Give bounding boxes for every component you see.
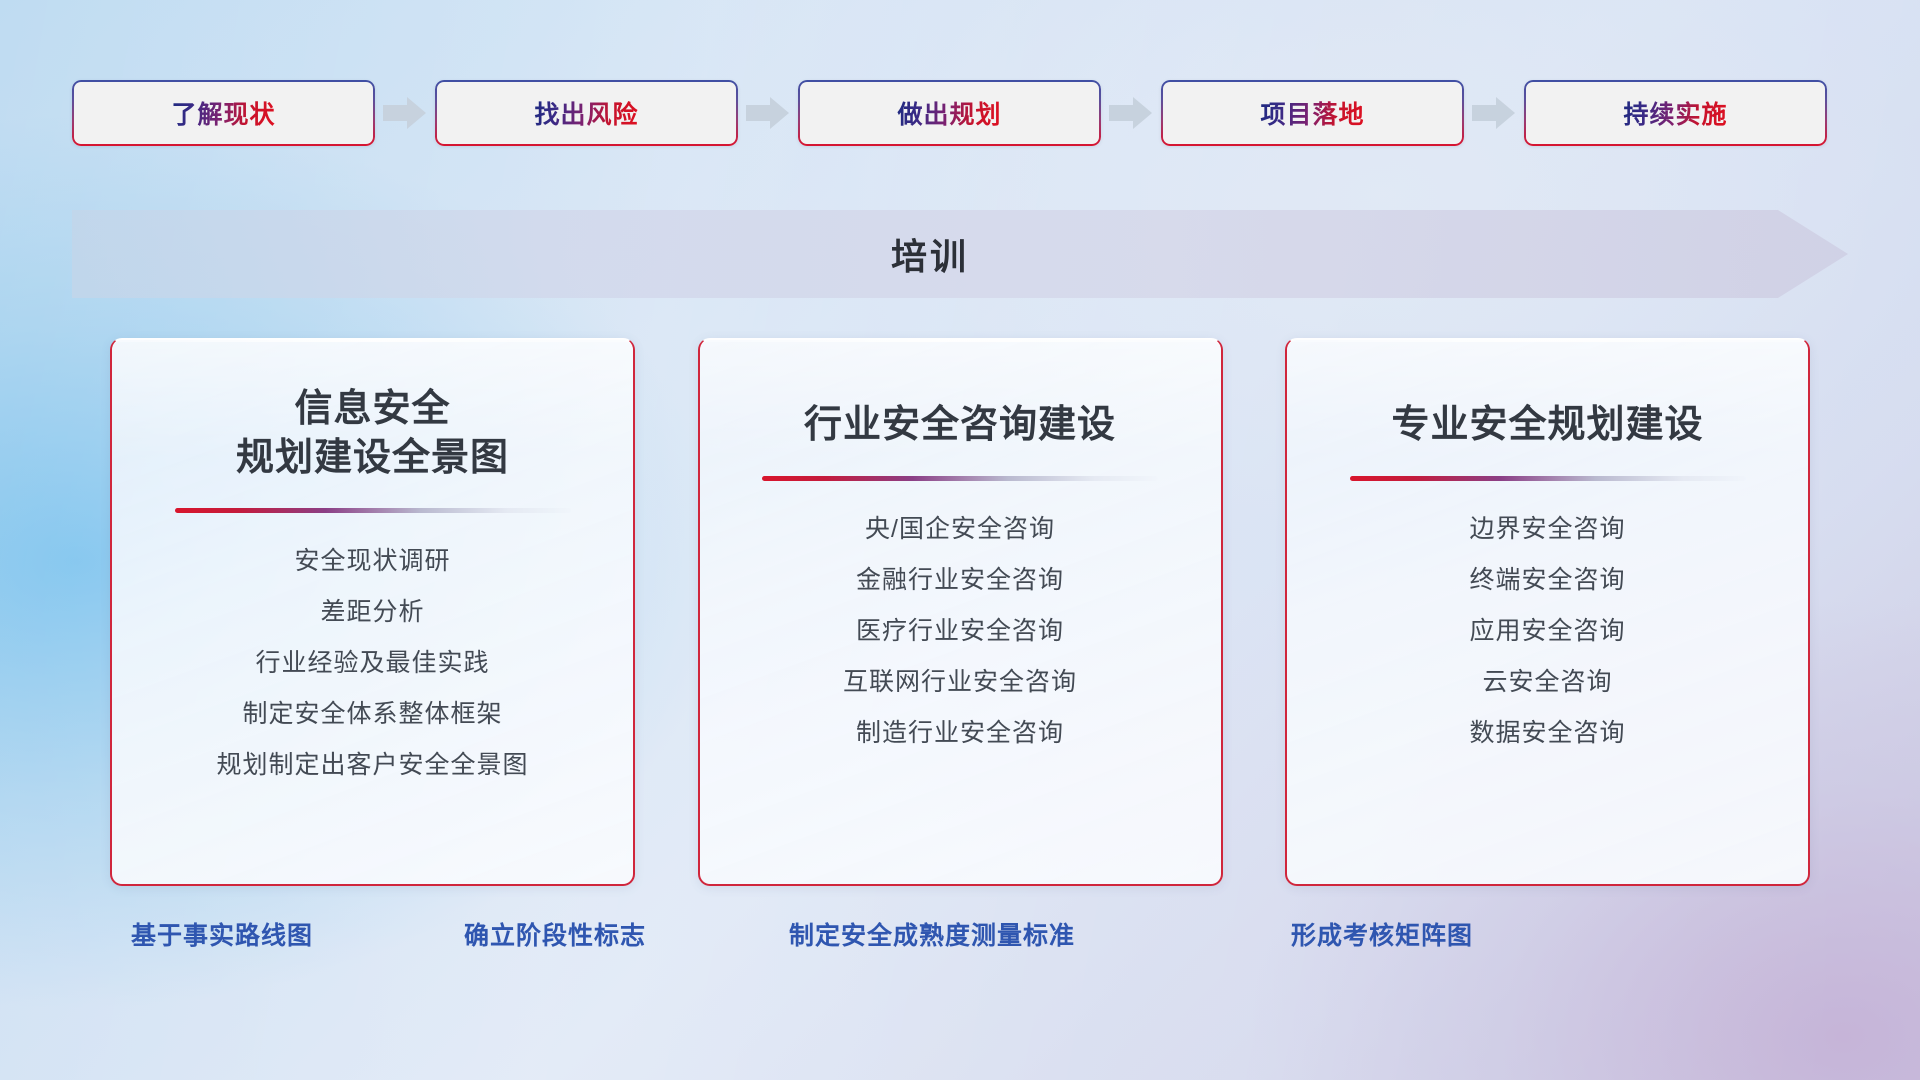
list-item: 行业经验及最佳实践	[216, 651, 528, 676]
step-arrow-4	[1464, 91, 1524, 135]
slide-root: 了解现状找出风险做出规划项目落地持续实施 培训 信息安全 规划建设全景图安全现状…	[0, 0, 1920, 1080]
card-divider	[762, 476, 1158, 481]
footnote-row: 基于事实路线图确立阶段性标志制定安全成熟度测量标准形成考核矩阵图	[0, 916, 1920, 960]
footnote-label-4: 形成考核矩阵图	[1291, 916, 1473, 952]
list-item: 规划制定出客户安全全景图	[216, 753, 528, 778]
list-item: 医疗行业安全咨询	[843, 619, 1077, 644]
list-item: 制造行业安全咨询	[843, 721, 1077, 746]
step-box-5[interactable]: 持续实施	[1524, 80, 1827, 146]
card-row: 信息安全 规划建设全景图安全现状调研差距分析行业经验及最佳实践制定安全体系整体框…	[110, 338, 1810, 886]
step-box-2[interactable]: 找出风险	[435, 80, 738, 146]
arrow-right-icon	[1109, 96, 1153, 130]
list-item: 金融行业安全咨询	[843, 568, 1077, 593]
card-item-list: 边界安全咨询终端安全咨询应用安全咨询云安全咨询数据安全咨询	[1469, 517, 1625, 746]
banner-title: 培训	[72, 210, 1848, 298]
step-box-4[interactable]: 项目落地	[1161, 80, 1464, 146]
list-item: 应用安全咨询	[1469, 619, 1625, 644]
card-top-highlight	[702, 339, 1219, 342]
step-label: 做出规划	[897, 95, 1001, 131]
footnote-label-2: 确立阶段性标志	[464, 916, 646, 952]
step-box-3[interactable]: 做出规划	[798, 80, 1101, 146]
step-arrow-1	[375, 91, 435, 135]
list-item: 边界安全咨询	[1469, 517, 1625, 542]
step-label: 找出风险	[534, 95, 638, 131]
arrow-right-icon	[1472, 96, 1516, 130]
process-step-row: 了解现状找出风险做出规划项目落地持续实施	[72, 78, 1848, 148]
arrow-right-icon	[746, 96, 790, 130]
list-item: 数据安全咨询	[1469, 721, 1625, 746]
step-arrow-3	[1101, 91, 1161, 135]
step-arrow-2	[738, 91, 798, 135]
step-box-1[interactable]: 了解现状	[72, 80, 375, 146]
service-card-3[interactable]: 专业安全规划建设边界安全咨询终端安全咨询应用安全咨询云安全咨询数据安全咨询	[1285, 338, 1810, 886]
training-banner: 培训	[72, 210, 1848, 298]
step-label: 了解现状	[171, 95, 275, 131]
list-item: 央/国企安全咨询	[843, 517, 1077, 542]
step-label: 项目落地	[1260, 95, 1364, 131]
card-divider	[175, 508, 571, 513]
list-item: 制定安全体系整体框架	[216, 702, 528, 727]
list-item: 安全现状调研	[216, 549, 528, 574]
card-item-list: 安全现状调研差距分析行业经验及最佳实践制定安全体系整体框架规划制定出客户安全全景…	[216, 549, 528, 778]
arrow-right-icon	[383, 96, 427, 130]
card-item-list: 央/国企安全咨询金融行业安全咨询医疗行业安全咨询互联网行业安全咨询制造行业安全咨…	[843, 517, 1077, 746]
step-label: 持续实施	[1623, 95, 1727, 131]
service-card-1[interactable]: 信息安全 规划建设全景图安全现状调研差距分析行业经验及最佳实践制定安全体系整体框…	[110, 338, 635, 886]
card-title: 行业安全咨询建设	[804, 401, 1116, 450]
footnote-label-3: 制定安全成熟度测量标准	[789, 916, 1075, 952]
list-item: 终端安全咨询	[1469, 568, 1625, 593]
list-item: 云安全咨询	[1469, 670, 1625, 695]
card-top-highlight	[114, 339, 631, 342]
card-title: 专业安全规划建设	[1391, 401, 1703, 450]
service-card-2[interactable]: 行业安全咨询建设央/国企安全咨询金融行业安全咨询医疗行业安全咨询互联网行业安全咨…	[698, 338, 1223, 886]
list-item: 互联网行业安全咨询	[843, 670, 1077, 695]
card-title: 信息安全 规划建设全景图	[236, 385, 509, 482]
list-item: 差距分析	[216, 600, 528, 625]
card-divider	[1350, 476, 1746, 481]
card-top-highlight	[1289, 339, 1806, 342]
footnote-label-1: 基于事实路线图	[131, 916, 313, 952]
